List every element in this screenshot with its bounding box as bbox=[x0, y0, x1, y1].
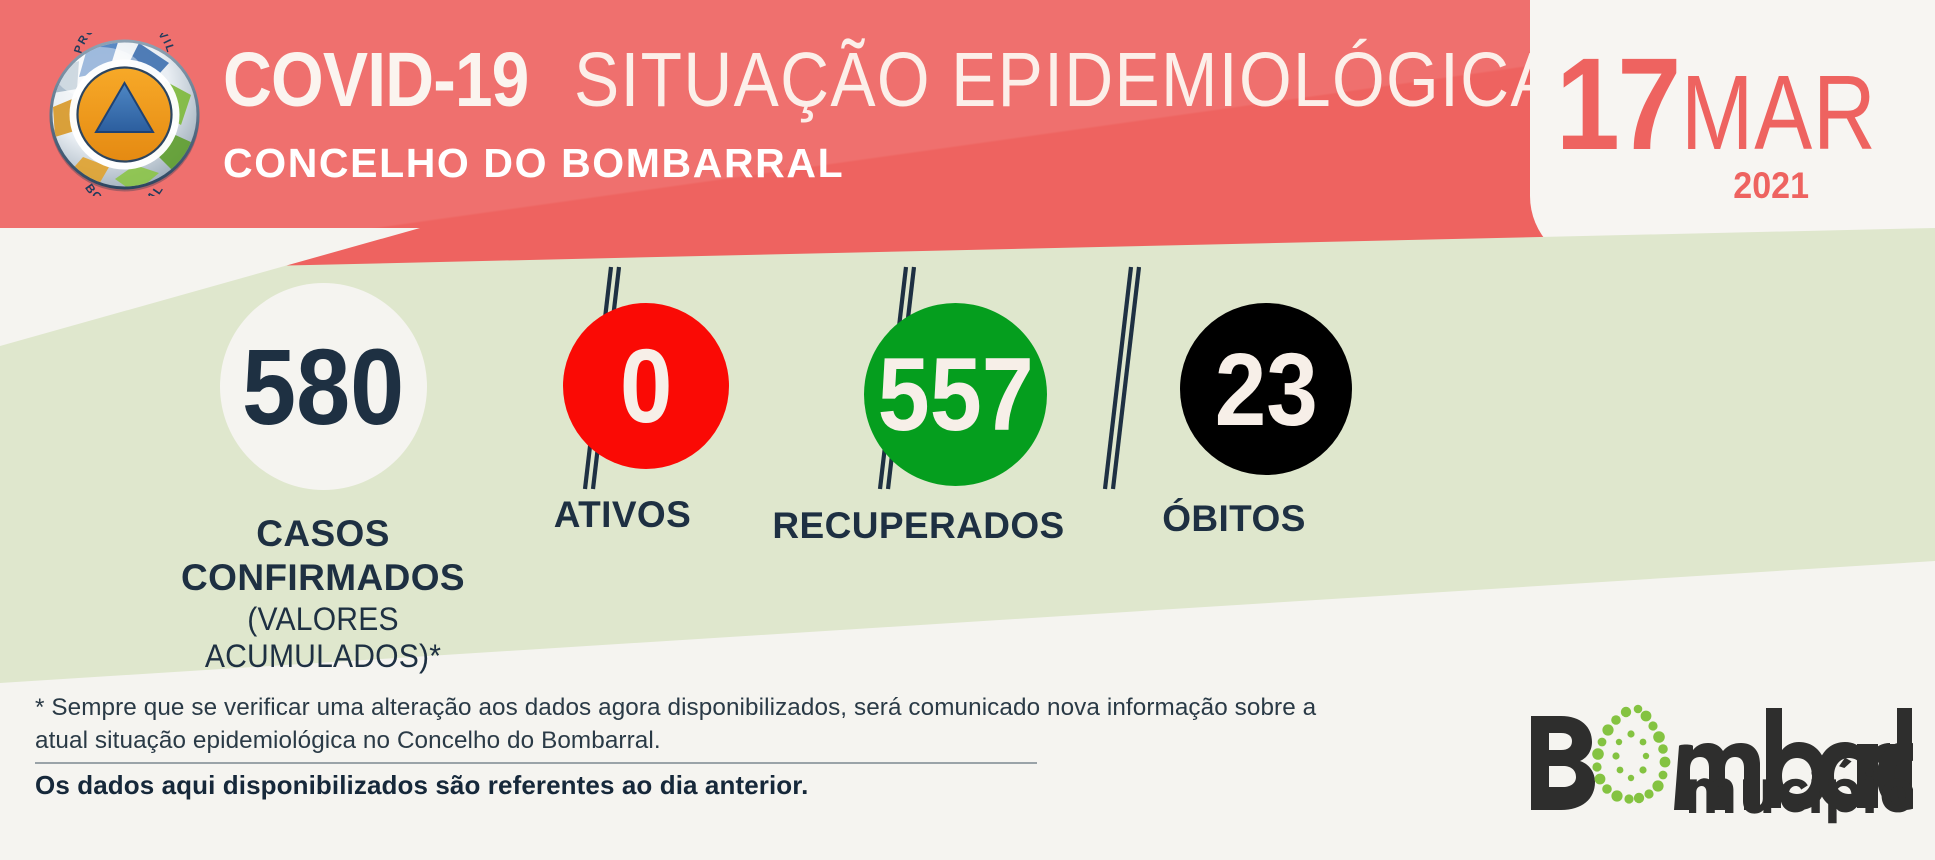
title-covid-label: COVID-19 bbox=[223, 44, 528, 118]
stat-ativos: 0 ATIVOS bbox=[563, 303, 729, 537]
stat-value-casos-confirmados: 580 bbox=[242, 333, 404, 441]
page-title: COVID-19 SITUAÇÃO EPIDEMIOLÓGICA bbox=[223, 44, 1691, 118]
stat-label-line1: ÓBITOS bbox=[1084, 497, 1384, 541]
stat-casos-confirmados: 580 CASOS CONFIRMADOS (VALORES ACUMULADO… bbox=[193, 283, 453, 675]
stat-label-line2: CONFIRMADOS bbox=[158, 556, 488, 600]
date-day: 17 bbox=[1556, 49, 1679, 159]
date-main: 17 MAR bbox=[1539, 49, 1919, 159]
date-year: 2021 bbox=[1734, 165, 1810, 207]
statistics-row: 580 CASOS CONFIRMADOS (VALORES ACUMULADO… bbox=[0, 283, 1600, 533]
footnote-line-1: * Sempre que se verificar uma alteração … bbox=[35, 692, 1183, 725]
stat-value-recuperados: 557 bbox=[877, 343, 1033, 447]
stat-recuperados: 557 RECUPERADOS bbox=[864, 303, 1047, 548]
stat-label-casos-confirmados: CASOS CONFIRMADOS bbox=[158, 512, 488, 599]
stat-label-line1: ATIVOS bbox=[493, 493, 753, 537]
footnote-highlight: Os dados aqui disponibilizados são refer… bbox=[35, 770, 1195, 801]
stat-obitos: 23 ÓBITOS bbox=[1180, 303, 1352, 541]
stat-label-obitos: ÓBITOS bbox=[1084, 497, 1384, 541]
protecao-civil-logo-icon: PROTEÇÃO CIVIL BOMBARRAL bbox=[43, 33, 206, 196]
separator-slash-3 bbox=[1095, 263, 1141, 493]
footnote-divider bbox=[35, 762, 1037, 764]
date-panel: 17 MAR 2021 bbox=[1530, 0, 1935, 266]
stat-value-ativos: 0 bbox=[620, 334, 673, 439]
header-subtitle: CONCELHO DO BOMBARRAL bbox=[223, 140, 1691, 187]
stat-label-line1: CASOS bbox=[158, 512, 488, 556]
stat-label-recuperados: RECUPERADOS bbox=[754, 504, 1084, 548]
stat-label-line1: RECUPERADOS bbox=[754, 504, 1084, 548]
title-situation-label: SITUAÇÃO EPIDEMIOLÓGICA bbox=[574, 44, 1557, 118]
date-month: MAR bbox=[1681, 69, 1877, 158]
stat-label-ativos: ATIVOS bbox=[493, 493, 753, 537]
header-title-block: COVID-19 SITUAÇÃO EPIDEMIOLÓGICA CONCELH… bbox=[223, 44, 1691, 187]
stat-sublabel-valores-acumulados: (VALORES ACUMULADOS)* bbox=[154, 601, 492, 675]
footnote-block: * Sempre que se verificar uma alteração … bbox=[35, 692, 1195, 801]
infographic-canvas: PROTEÇÃO CIVIL BOMBARRAL COVID-19 SITUAÇ… bbox=[0, 0, 1935, 860]
bombarral-municipio-logo bbox=[1513, 690, 1913, 830]
header-banner: PROTEÇÃO CIVIL BOMBARRAL COVID-19 SITUAÇ… bbox=[0, 0, 1935, 266]
stat-value-obitos: 23 bbox=[1214, 338, 1317, 441]
footnote-line-2: atual situação epidemiológica no Concelh… bbox=[35, 725, 1183, 758]
